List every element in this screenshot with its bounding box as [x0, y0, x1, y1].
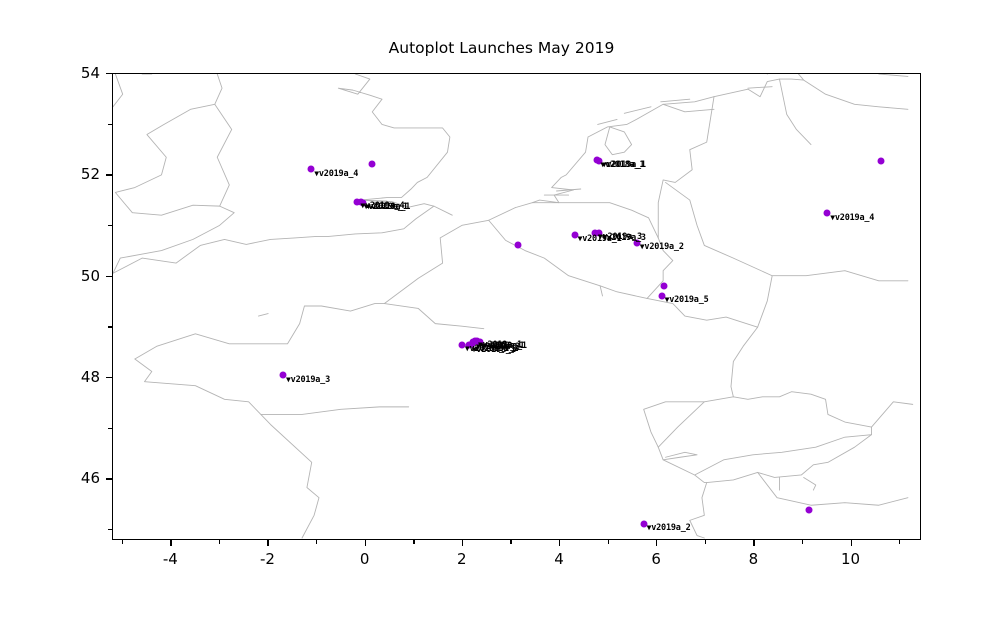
scatter-point[interactable] — [514, 242, 521, 249]
y-tick-label: 52 — [0, 165, 100, 183]
map-line — [804, 80, 908, 109]
y-minor-tick — [108, 124, 112, 125]
scatter-point-label: ▼v2019a_1 — [602, 160, 646, 170]
map-line — [859, 74, 907, 76]
scatter-point-label-text: v2019a_2 — [644, 242, 683, 252]
scatter-point-label: ▼v2019a_1 — [366, 202, 410, 212]
x-minor-tick — [608, 540, 609, 544]
x-tick — [851, 540, 852, 546]
scatter-point-label: ▼v2019a_4 — [830, 213, 874, 223]
x-tick-label: -4 — [163, 550, 178, 568]
y-minor-tick — [108, 529, 112, 530]
x-tick-label: 4 — [554, 550, 564, 568]
map-line — [434, 206, 452, 215]
x-tick — [656, 540, 657, 546]
map-line — [624, 107, 651, 114]
x-minor-tick — [705, 540, 706, 544]
y-tick — [106, 478, 112, 479]
scatter-point-label: ▼v2019a_1 — [472, 345, 516, 355]
map-line — [605, 127, 632, 155]
scatter-point[interactable] — [660, 282, 667, 289]
scatter-point[interactable] — [368, 161, 375, 168]
x-tick — [753, 540, 754, 546]
x-minor-tick — [122, 540, 123, 544]
map-line — [113, 74, 234, 273]
matplotlib-figure: Autoplot Launches May 2019 ▼v2019a_4▼v20… — [0, 0, 1003, 633]
map-line — [804, 477, 816, 490]
map-line — [258, 314, 268, 316]
x-tick-label: 0 — [360, 550, 370, 568]
map-line — [600, 286, 602, 296]
x-minor-tick — [510, 540, 511, 544]
scatter-point-label: ▼v2019a_2 — [647, 523, 691, 533]
map-line — [113, 74, 123, 107]
map-line — [215, 104, 232, 206]
x-tick — [170, 540, 171, 546]
scatter-point-label: ▼v2019a_2 — [640, 242, 684, 252]
map-line — [690, 483, 707, 538]
x-minor-tick — [899, 540, 900, 544]
map-line — [663, 452, 697, 460]
y-tick-label: 54 — [0, 64, 100, 82]
scatter-point-label-text: v2019a_3 — [291, 375, 330, 385]
map-line — [135, 359, 319, 538]
scatter-point-label-text: v2019a_1 — [607, 160, 646, 170]
x-minor-tick — [316, 540, 317, 544]
x-tick-label: 6 — [651, 550, 661, 568]
scatter-point-label-text: v2019a_5 — [669, 295, 708, 305]
scatter-point-label: ▼v2019a_3 — [286, 375, 330, 385]
map-line — [733, 392, 871, 427]
map-line — [779, 79, 811, 145]
scatter-point-label-text: v2019a_2 — [651, 523, 690, 533]
y-minor-tick — [108, 225, 112, 226]
scatter-point-label: ▼v2019a_5 — [665, 295, 709, 305]
scatter-point-label-text: v2019a_4 — [835, 213, 874, 223]
y-tick-label: 50 — [0, 267, 100, 285]
map-line — [872, 402, 913, 427]
x-minor-tick — [802, 540, 803, 544]
map-line — [695, 435, 872, 475]
x-tick-label: 10 — [841, 550, 860, 568]
scatter-point[interactable] — [805, 506, 812, 513]
y-tick-label: 48 — [0, 368, 100, 386]
y-tick-label: 46 — [0, 469, 100, 487]
map-line — [384, 304, 483, 329]
y-minor-tick — [108, 428, 112, 429]
map-line — [135, 208, 515, 359]
plot-axes: ▼v2019a_4▼v2019a_4▼v2019a_1▼v2019a_1▼v20… — [112, 73, 921, 540]
map-line — [261, 407, 409, 415]
map-line — [661, 99, 690, 102]
map-line — [598, 119, 617, 124]
x-tick-label: -2 — [260, 550, 275, 568]
map-line — [748, 87, 772, 88]
map-line — [714, 74, 804, 97]
x-minor-tick — [413, 540, 414, 544]
scatter-point[interactable] — [877, 158, 884, 165]
scatter-point-label: ▼v2019a_4 — [314, 169, 358, 179]
scatter-point-label: ▼v2019a_3 — [602, 233, 646, 243]
y-tick — [106, 174, 112, 175]
map-line — [644, 402, 705, 447]
y-tick — [106, 276, 112, 277]
y-minor-tick — [108, 326, 112, 327]
page-title: Autoplot Launches May 2019 — [0, 39, 1003, 57]
scatter-point-label-text: v2019a_3 — [607, 233, 646, 243]
x-tick — [365, 540, 366, 546]
x-tick-label: 2 — [457, 550, 467, 568]
map-line — [658, 97, 714, 238]
map-line — [113, 74, 450, 273]
x-tick — [267, 540, 268, 546]
map-line — [772, 271, 908, 281]
map-line — [663, 104, 714, 112]
y-tick — [106, 73, 112, 74]
map-line — [666, 182, 773, 327]
x-tick — [462, 540, 463, 546]
scatter-point-label-text: v2019a_1 — [476, 345, 515, 355]
scatter-point-label-text: v2019a_4 — [319, 169, 358, 179]
x-minor-tick — [219, 540, 220, 544]
x-tick-label: 8 — [749, 550, 759, 568]
scatter-point-label-text: v2019a_1 — [371, 202, 410, 212]
x-tick — [559, 540, 560, 546]
map-line — [658, 397, 733, 483]
map-line — [515, 97, 714, 208]
map-line — [731, 327, 758, 397]
basemap-coastlines — [113, 74, 920, 539]
y-tick — [106, 377, 112, 378]
map-line — [707, 427, 872, 482]
